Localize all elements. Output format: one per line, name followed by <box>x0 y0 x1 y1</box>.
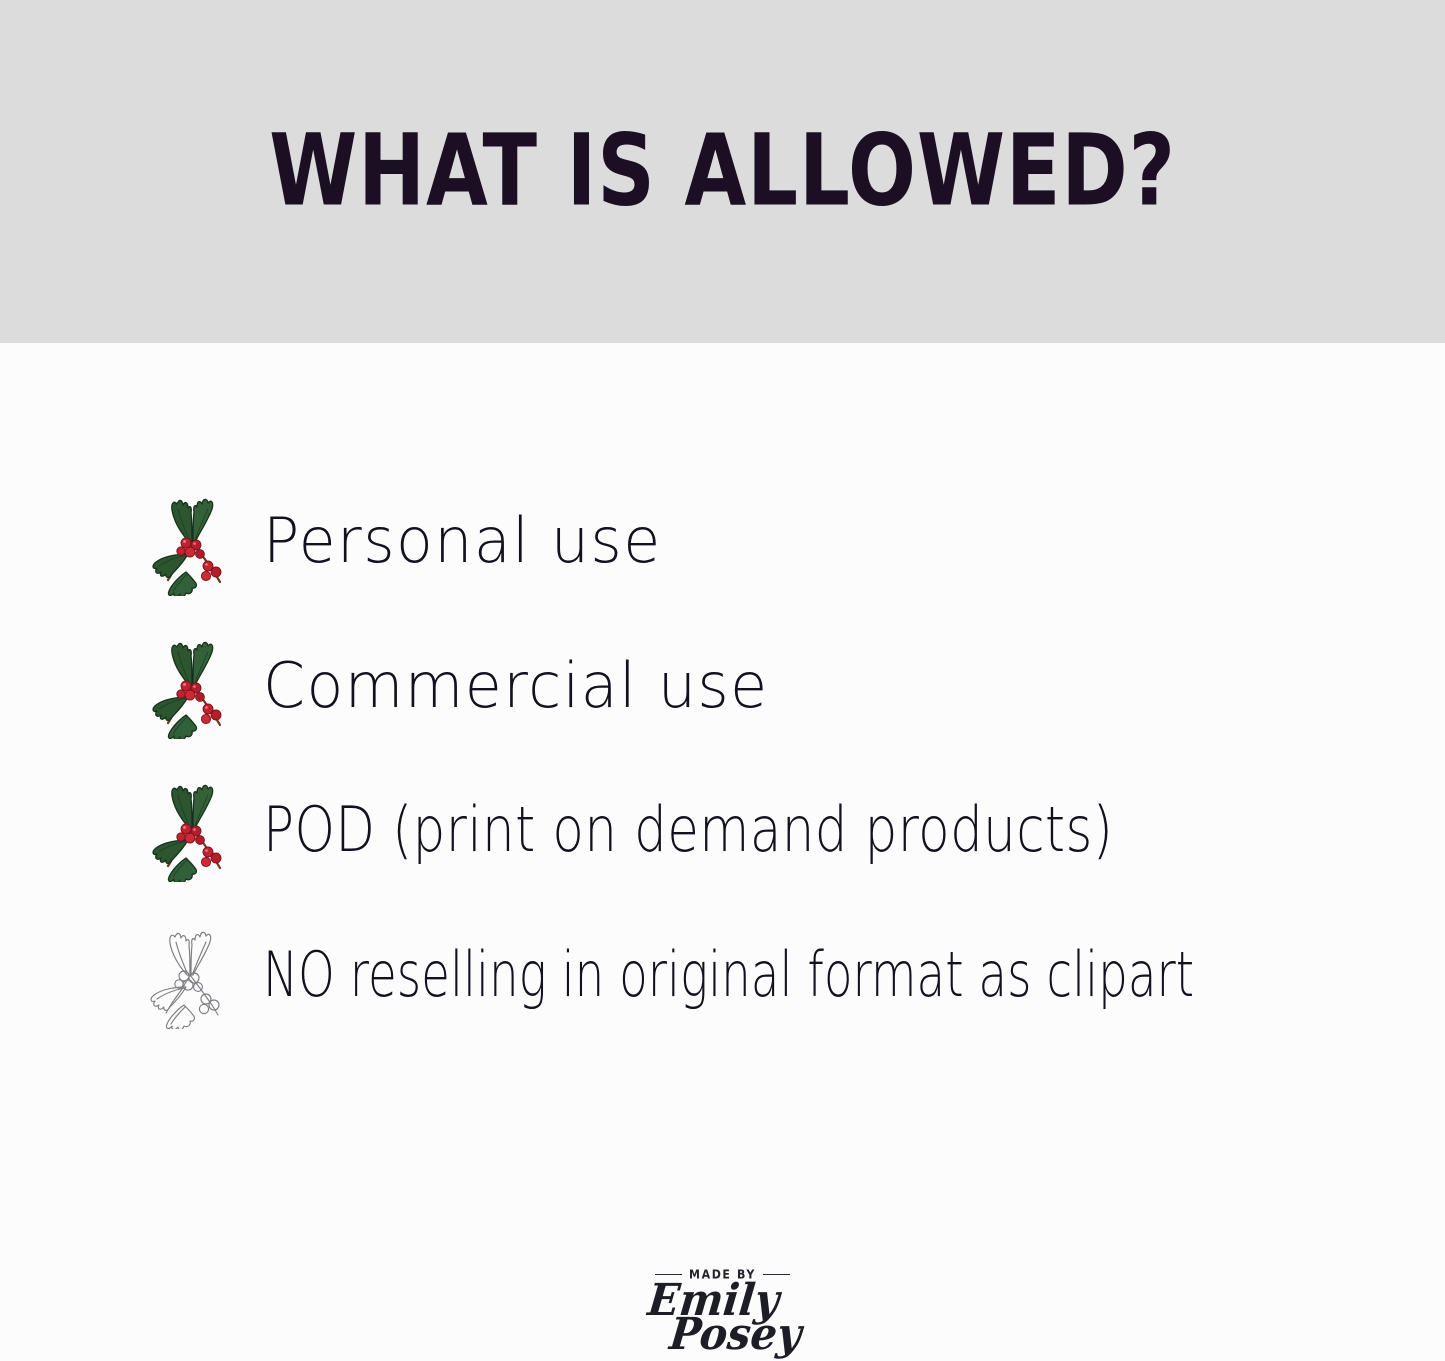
infographic-page: WHAT IS ALLOWED? <box>0 0 1445 1361</box>
holly-sprig-color-icon <box>148 496 236 596</box>
list-item: POD (print on demand products) <box>0 774 1445 917</box>
signature: Emily Posey <box>0 1282 1445 1354</box>
list-item-label: POD (print on demand products) <box>263 774 1113 884</box>
list-item-label: NO reselling in original format as clipa… <box>263 919 1194 1029</box>
list-item: NO reselling in original format as clipa… <box>0 917 1445 1060</box>
list-item: Personal use <box>0 488 1445 631</box>
holly-sprig-outline-icon <box>146 929 234 1029</box>
list-item: Commercial use <box>0 631 1445 774</box>
list-item-label: Commercial use <box>263 630 769 740</box>
signature-last-name: Posey <box>67 1316 1405 1354</box>
allowed-usage-list: Personal use <box>0 488 1445 1060</box>
page-title: WHAT IS ALLOWED? <box>101 122 1344 221</box>
list-item-label: Personal use <box>263 485 662 595</box>
holly-sprig-color-icon <box>148 782 236 882</box>
footer-logo: MADE BY Emily Posey <box>0 1268 1445 1354</box>
holly-sprig-color-icon <box>148 639 236 739</box>
